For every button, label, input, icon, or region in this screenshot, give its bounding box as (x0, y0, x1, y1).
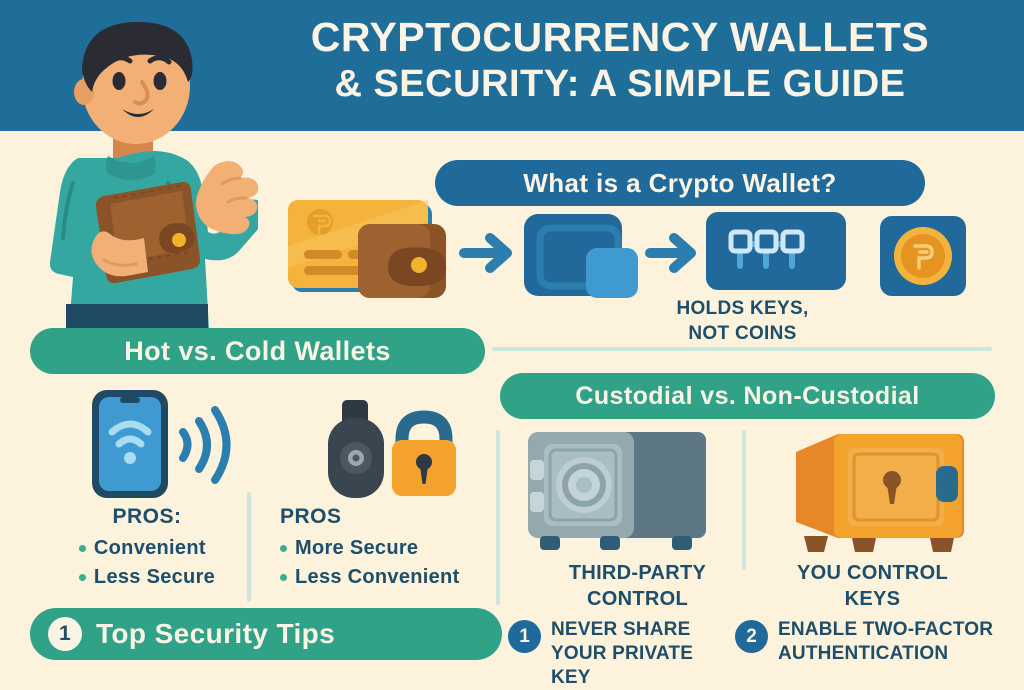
cold-wallet-pros: PROS More Secure Less Convenient (280, 505, 495, 592)
section-header-label: Hot vs. Cold Wallets (124, 336, 391, 367)
hardware-wallet-padlock-icon (320, 400, 480, 502)
wallet-flow-diagram (288, 196, 988, 311)
you-control-keys-caption: YOU CONTROL KEYS (765, 560, 980, 612)
list-item: Less Convenient (280, 563, 495, 592)
page-title-line-2: & Security: A Simple Guide (225, 61, 1015, 108)
tip-line-2: YOUR PRIVATE KEY (551, 643, 693, 688)
hot-pros-title: PROS: (52, 505, 242, 529)
tip-text: ENABLE TWO-FACTOR AUTHENTICATION (778, 618, 993, 666)
list-item-label: Less Convenient (295, 563, 460, 592)
padlock-icon (392, 417, 456, 496)
third-party-control-caption: THIRD-PARTY CONTROL (530, 560, 745, 612)
cold-pros-list: More Secure Less Convenient (280, 534, 495, 592)
security-tip-1: 1 NEVER SHARE YOUR PRIVATE KEY (508, 618, 733, 690)
cold-pros-title: PROS (280, 505, 495, 529)
page-title-line-1: Cryptocurrency Wallets (225, 14, 1015, 61)
tips-badge-number: 1 (48, 617, 82, 651)
person-holding-wallet-illustration (18, 8, 258, 338)
tip-line-1: NEVER SHARE (551, 619, 690, 640)
divider-vertical-left-right (496, 430, 500, 605)
divider-vertical-hot-cold (247, 492, 251, 602)
tip-text: NEVER SHARE YOUR PRIVATE KEY (551, 618, 733, 690)
smartphone-wifi-icon (82, 388, 257, 500)
hot-wallet-pros: PROS: Convenient Less Secure (52, 505, 242, 592)
keys-row-icon (706, 212, 846, 290)
bullet-dot (79, 545, 86, 552)
gray-safe-icon (522, 424, 714, 552)
list-item: Less Secure (79, 563, 215, 592)
section-header-hot-vs-cold: Hot vs. Cold Wallets (30, 328, 485, 374)
tip-number-badge: 1 (508, 620, 541, 653)
bullet-dot (280, 574, 287, 581)
bullet-dot (79, 574, 86, 581)
security-tip-2: 2 ENABLE TWO-FACTOR AUTHENTICATION (735, 618, 1005, 666)
list-item: Convenient (79, 534, 215, 563)
hot-pros-list: Convenient Less Secure (79, 534, 215, 592)
hardware-wallet-icon (328, 400, 384, 498)
section-header-label: What is a Crypto Wallet? (523, 168, 836, 199)
section-header-label: Custodial vs. Non-Custodial (575, 382, 919, 411)
pointing-hand (196, 161, 258, 234)
section-header-label: Top Security Tips (96, 618, 335, 650)
list-item-label: Convenient (94, 534, 206, 563)
caption-line-2: KEYS (765, 586, 980, 612)
tip-line-2: AUTHENTICATION (778, 643, 948, 664)
holds-keys-caption: HOLDS KEYS, NOT COINS (640, 296, 845, 346)
divider-vertical-custodial (742, 430, 746, 570)
orange-safe-icon (782, 424, 974, 552)
device-screen-icon (524, 214, 638, 298)
tip-number-badge: 2 (735, 620, 768, 653)
divider-horizontal-main (492, 347, 992, 351)
coin-icon (880, 216, 966, 296)
list-item: More Secure (280, 534, 495, 563)
list-item-label: Less Secure (94, 563, 215, 592)
holds-keys-caption-line-1: HOLDS KEYS, (640, 296, 845, 321)
caption-line-1: THIRD-PARTY (530, 560, 745, 586)
page-title: Cryptocurrency Wallets & Security: A Sim… (225, 14, 1015, 108)
caption-line-2: CONTROL (530, 586, 745, 612)
tip-line-1: ENABLE TWO-FACTOR (778, 619, 993, 640)
section-header-custodial-vs-non-custodial: Custodial vs. Non-Custodial (500, 373, 995, 419)
section-header-top-security-tips: 1 Top Security Tips (30, 608, 502, 660)
arrow-right-icon-1 (464, 238, 507, 268)
list-item-label: More Secure (295, 534, 418, 563)
caption-line-1: YOU CONTROL (765, 560, 980, 586)
card-wallet-icon (288, 200, 446, 298)
arrow-right-icon-2 (650, 238, 691, 268)
holds-keys-caption-line-2: NOT COINS (640, 321, 845, 346)
bullet-dot (280, 545, 287, 552)
infographic-canvas: Cryptocurrency Wallets & Security: A Sim… (0, 0, 1024, 683)
